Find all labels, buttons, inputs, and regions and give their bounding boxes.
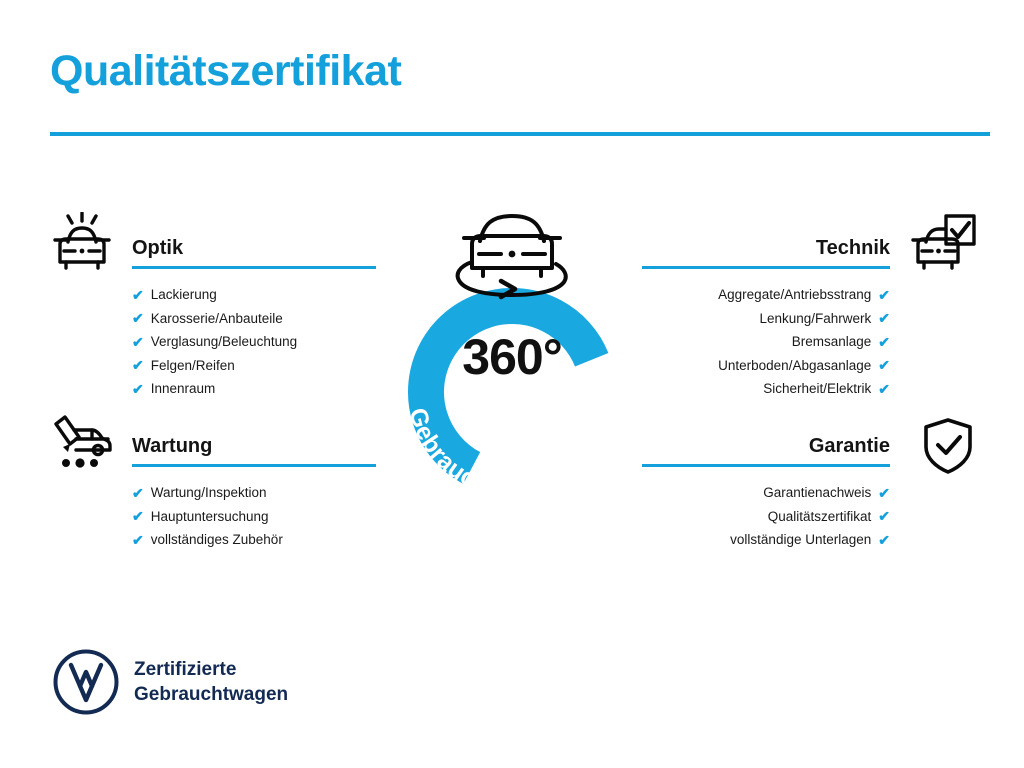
list-item: vollständige Unterlagen ✔ — [642, 528, 890, 552]
list-item: ✔ Innenraum — [132, 377, 376, 401]
list-item-label: Hauptuntersuchung — [151, 505, 269, 529]
list-item-label: Unterboden/Abgasanlage — [718, 354, 871, 378]
check-icon: ✔ — [878, 486, 890, 500]
list-item-label: Karosserie/Anbauteile — [151, 307, 283, 331]
check-icon: ✔ — [132, 509, 144, 523]
footer-brand-line1: Zertifizierte — [134, 657, 288, 682]
list-item: Garantienachweis ✔ — [642, 481, 890, 505]
list-item: Aggregate/Antriebsstrang ✔ — [642, 283, 890, 307]
section-garantie: Garantie Garantienachweis ✔ Qualitätszer… — [642, 436, 890, 552]
certificate-page: Qualitätszertifikat — [0, 0, 1024, 768]
list-item: Lenkung/Fahrwerk ✔ — [642, 307, 890, 331]
list-item: ✔ Hauptuntersuchung — [132, 505, 376, 529]
list-item: Qualitätszertifikat ✔ — [642, 505, 890, 529]
section-optik-heading: Optik — [132, 238, 376, 258]
section-technik: Technik Aggregate/Antriebsstrang ✔ Lenku… — [642, 238, 890, 401]
check-icon: ✔ — [132, 311, 144, 325]
section-technik-list: Aggregate/Antriebsstrang ✔ Lenkung/Fahrw… — [642, 283, 890, 401]
list-item: Bremsanlage ✔ — [642, 330, 890, 354]
check-icon: ✔ — [878, 335, 890, 349]
footer-brand-logo: Zertifizierte Gebrauchtwagen — [52, 648, 288, 716]
list-item: ✔ vollständiges Zubehör — [132, 528, 376, 552]
list-item-label: Sicherheit/Elektrik — [763, 377, 871, 401]
check-icon: ✔ — [132, 382, 144, 396]
check-icon: ✔ — [132, 335, 144, 349]
check-icon: ✔ — [132, 533, 144, 547]
check-icon: ✔ — [878, 311, 890, 325]
page-title: Qualitätszertifikat — [50, 48, 401, 95]
list-item-label: Felgen/Reifen — [151, 354, 235, 378]
section-garantie-divider — [642, 464, 890, 467]
check-icon: ✔ — [878, 288, 890, 302]
badge-360-gebrauchtwagen-check: Gebrauchtwagen-Check — [368, 196, 656, 488]
check-icon: ✔ — [132, 288, 144, 302]
list-item-label: Lenkung/Fahrwerk — [759, 307, 871, 331]
list-item: Sicherheit/Elektrik ✔ — [642, 377, 890, 401]
shield-check-icon — [912, 414, 984, 478]
list-item: ✔ Lackierung — [132, 283, 376, 307]
list-item: ✔ Felgen/Reifen — [132, 354, 376, 378]
section-wartung-divider — [132, 464, 376, 467]
car-shine-icon — [46, 212, 118, 276]
vw-logo-icon — [52, 648, 120, 716]
list-item-label: Aggregate/Antriebsstrang — [718, 283, 871, 307]
list-item: ✔ Karosserie/Anbauteile — [132, 307, 376, 331]
section-wartung: Wartung ✔ Wartung/Inspektion ✔ Hauptunte… — [132, 436, 376, 552]
list-item-label: vollständige Unterlagen — [730, 528, 871, 552]
check-icon: ✔ — [878, 533, 890, 547]
list-item: ✔ Wartung/Inspektion — [132, 481, 376, 505]
check-icon: ✔ — [878, 358, 890, 372]
section-wartung-heading: Wartung — [132, 436, 376, 456]
footer-brand-text: Zertifizierte Gebrauchtwagen — [134, 657, 288, 707]
footer-brand-line2: Gebrauchtwagen — [134, 682, 288, 707]
section-garantie-heading: Garantie — [642, 436, 890, 456]
car-pencil-service-icon — [46, 410, 118, 474]
check-icon: ✔ — [878, 509, 890, 523]
list-item-label: Garantienachweis — [763, 481, 871, 505]
list-item-label: Lackierung — [151, 283, 217, 307]
list-item: ✔ Verglasung/Beleuchtung — [132, 330, 376, 354]
header-divider — [50, 132, 990, 136]
list-item-label: Bremsanlage — [792, 330, 872, 354]
check-icon: ✔ — [132, 486, 144, 500]
section-wartung-list: ✔ Wartung/Inspektion ✔ Hauptuntersuchung… — [132, 481, 376, 552]
section-technik-divider — [642, 266, 890, 269]
section-garantie-list: Garantienachweis ✔ Qualitätszertifikat ✔… — [642, 481, 890, 552]
list-item-label: Qualitätszertifikat — [768, 505, 872, 529]
list-item-label: Verglasung/Beleuchtung — [151, 330, 297, 354]
check-icon: ✔ — [132, 358, 144, 372]
list-item-label: vollständiges Zubehör — [151, 528, 283, 552]
car-rotate-360-icon — [458, 216, 566, 297]
car-checkbox-icon — [906, 212, 978, 276]
section-technik-heading: Technik — [642, 238, 890, 258]
check-icon: ✔ — [878, 382, 890, 396]
list-item-label: Innenraum — [151, 377, 216, 401]
list-item: Unterboden/Abgasanlage ✔ — [642, 354, 890, 378]
section-optik-divider — [132, 266, 376, 269]
section-optik-list: ✔ Lackierung ✔ Karosserie/Anbauteile ✔ V… — [132, 283, 376, 401]
list-item-label: Wartung/Inspektion — [151, 481, 267, 505]
section-optik: Optik ✔ Lackierung ✔ Karosserie/Anbautei… — [132, 238, 376, 401]
